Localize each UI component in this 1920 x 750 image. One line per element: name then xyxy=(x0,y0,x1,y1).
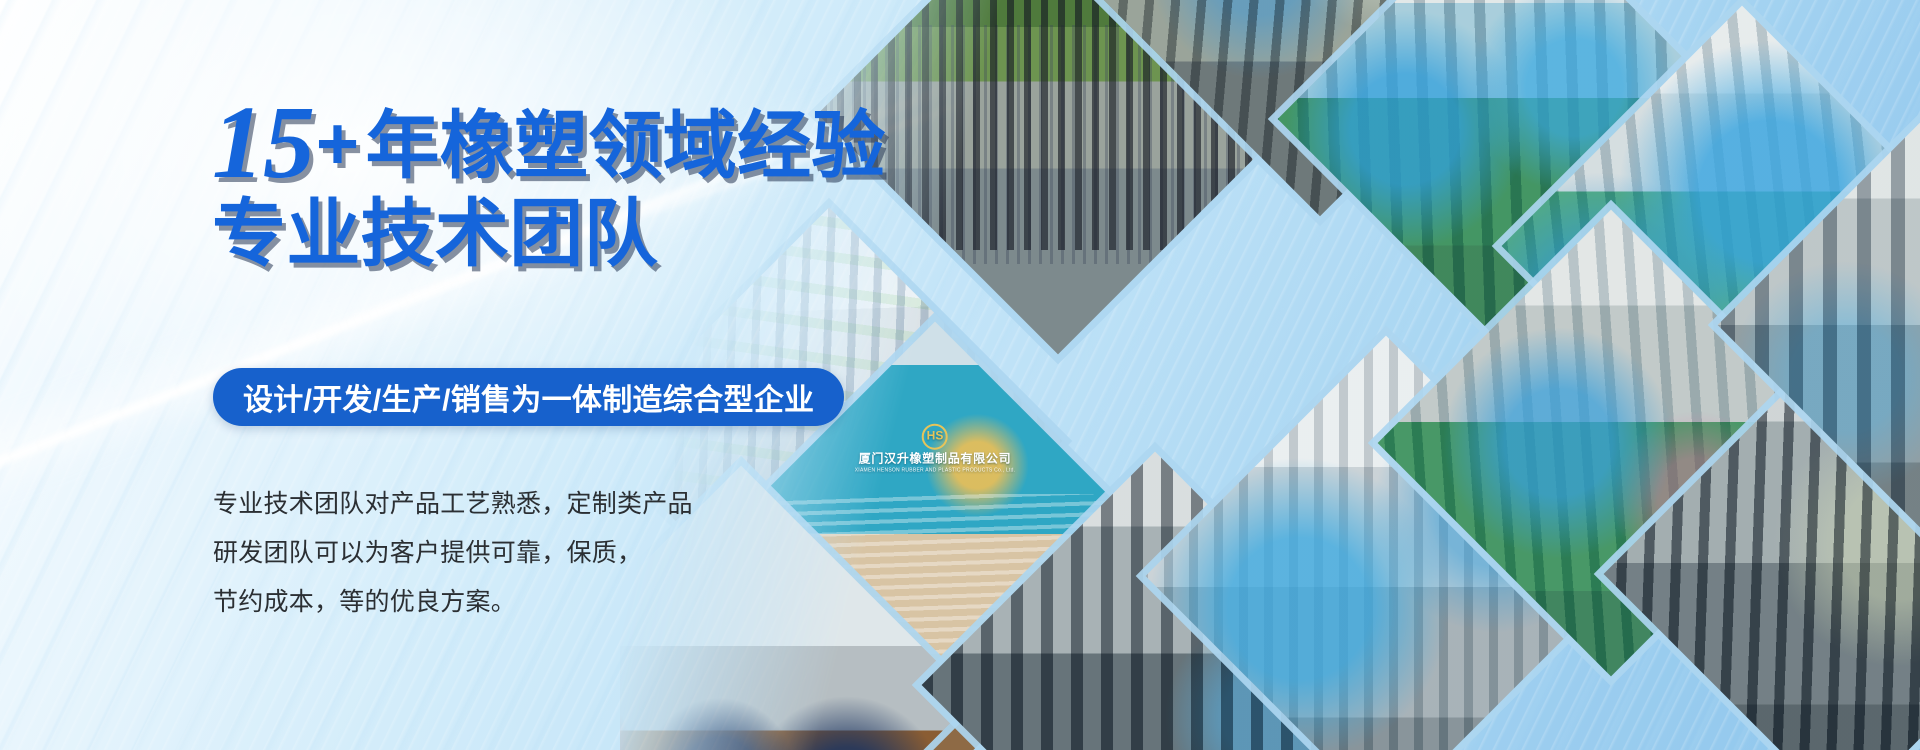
banner-copy: 15+年橡塑领域经验 专业技术团队 设计/开发/生产/销售为一体制造综合型企业 … xyxy=(0,0,930,750)
headline: 15+年橡塑领域经验 专业技术团队 xyxy=(212,96,932,272)
tagline-badge-label: 设计/开发/生产/销售为一体制造综合型企业 xyxy=(243,375,814,419)
tagline-badge: 设计/开发/生产/销售为一体制造综合型企业 xyxy=(213,368,844,426)
description-line-2: 研发团队可以为客户提供可靠，保质， xyxy=(213,529,833,578)
description-line-3: 节约成本，等的优良方案。 xyxy=(213,578,833,627)
headline-line1-tail: 年橡塑领域经验 xyxy=(365,104,885,187)
description-paragraph: 专业技术团队对产品工艺熟悉，定制类产品 研发团队可以为客户提供可靠，保质， 节约… xyxy=(213,480,833,626)
plus-sign: + xyxy=(316,102,360,185)
description-line-1: 专业技术团队对产品工艺熟悉，定制类产品 xyxy=(213,480,833,529)
headline-line2: 专业技术团队 xyxy=(212,196,932,272)
years-number: 15 xyxy=(212,85,314,200)
company-banner: HS 厦门汉升橡塑制品有限公司 XIAMEN HENSON RUBBER AND… xyxy=(0,0,1920,750)
